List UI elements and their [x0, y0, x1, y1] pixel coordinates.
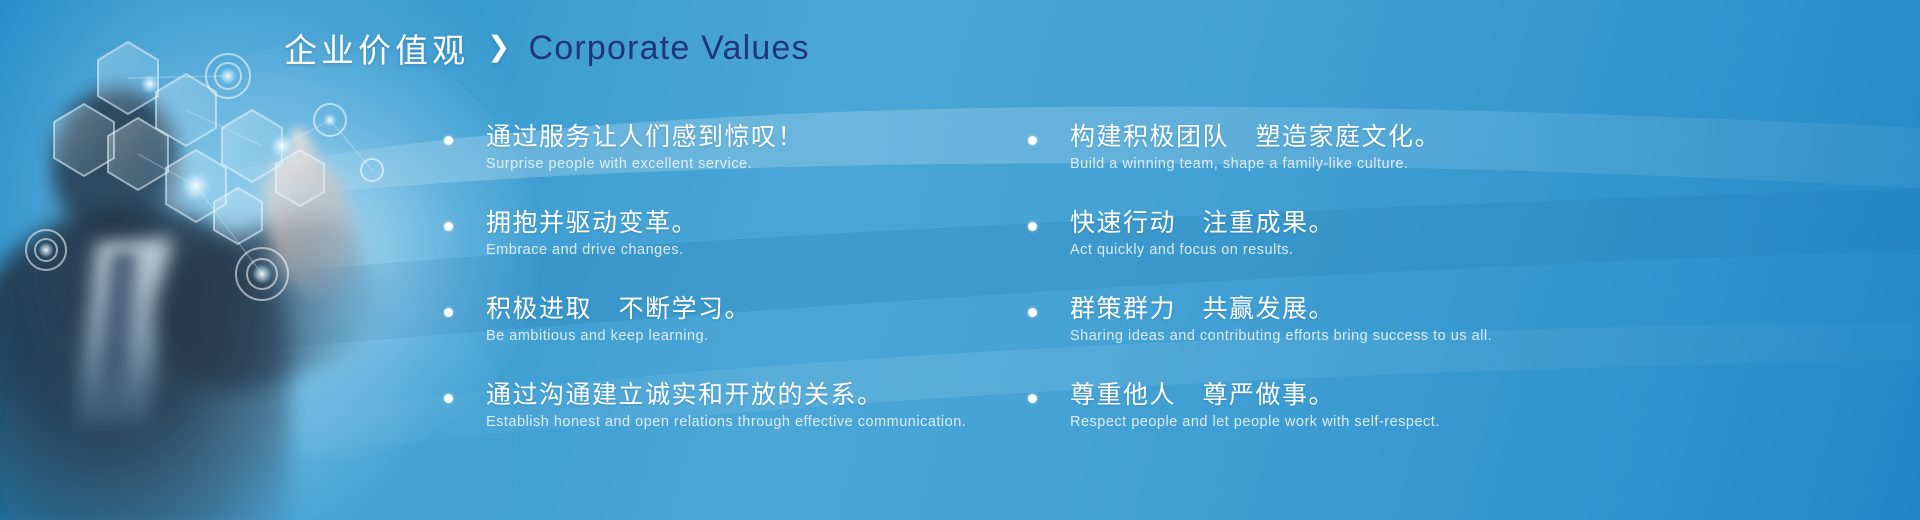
- value-text-en: Embrace and drive changes.: [486, 240, 1058, 261]
- values-columns: 通过服务让人们感到惊叹！ Surprise people with excell…: [0, 0, 1920, 520]
- bullet-icon: [444, 136, 453, 145]
- value-text-en: Be ambitious and keep learning.: [486, 326, 1058, 347]
- value-text-cn: 群策群力 共赢发展。: [1070, 292, 1642, 326]
- value-text-en: Surprise people with excellent service.: [486, 154, 1058, 175]
- corporate-values-banner: 企业价值观 ❯ Corporate Values 通过服务让人们感到惊叹！ Su…: [0, 0, 1920, 520]
- value-item: 群策群力 共赢发展。 Sharing ideas and contributin…: [1022, 292, 1642, 347]
- bullet-icon: [1028, 394, 1037, 403]
- value-item: 尊重他人 尊严做事。 Respect people and let people…: [1022, 378, 1642, 433]
- value-text-en: Act quickly and focus on results.: [1070, 240, 1642, 261]
- bullet-icon: [444, 394, 453, 403]
- bullet-icon: [1028, 308, 1037, 317]
- value-text-cn: 尊重他人 尊严做事。: [1070, 378, 1642, 412]
- value-text-cn: 通过沟通建立诚实和开放的关系。: [486, 378, 1058, 412]
- value-text-en: Respect people and let people work with …: [1070, 412, 1642, 433]
- value-text-cn: 拥抱并驱动变革。: [486, 206, 1058, 240]
- value-item: 快速行动 注重成果。 Act quickly and focus on resu…: [1022, 206, 1642, 261]
- value-item: 构建积极团队 塑造家庭文化。 Build a winning team, sha…: [1022, 120, 1642, 175]
- values-column-right: 构建积极团队 塑造家庭文化。 Build a winning team, sha…: [1022, 120, 1642, 464]
- value-text-cn: 通过服务让人们感到惊叹！: [486, 120, 1058, 154]
- bullet-icon: [1028, 136, 1037, 145]
- value-text-en: Establish honest and open relations thro…: [486, 412, 1058, 433]
- value-text-cn: 构建积极团队 塑造家庭文化。: [1070, 120, 1642, 154]
- value-item: 通过沟通建立诚实和开放的关系。 Establish honest and ope…: [438, 378, 1058, 433]
- values-column-left: 通过服务让人们感到惊叹！ Surprise people with excell…: [438, 120, 1058, 464]
- value-text-cn: 积极进取 不断学习。: [486, 292, 1058, 326]
- bullet-icon: [1028, 222, 1037, 231]
- value-item: 拥抱并驱动变革。 Embrace and drive changes.: [438, 206, 1058, 261]
- value-text-en: Build a winning team, shape a family-lik…: [1070, 154, 1642, 175]
- value-text-cn: 快速行动 注重成果。: [1070, 206, 1642, 240]
- bullet-icon: [444, 308, 453, 317]
- value-item: 积极进取 不断学习。 Be ambitious and keep learnin…: [438, 292, 1058, 347]
- value-item: 通过服务让人们感到惊叹！ Surprise people with excell…: [438, 120, 1058, 175]
- value-text-en: Sharing ideas and contributing efforts b…: [1070, 326, 1642, 347]
- bullet-icon: [444, 222, 453, 231]
